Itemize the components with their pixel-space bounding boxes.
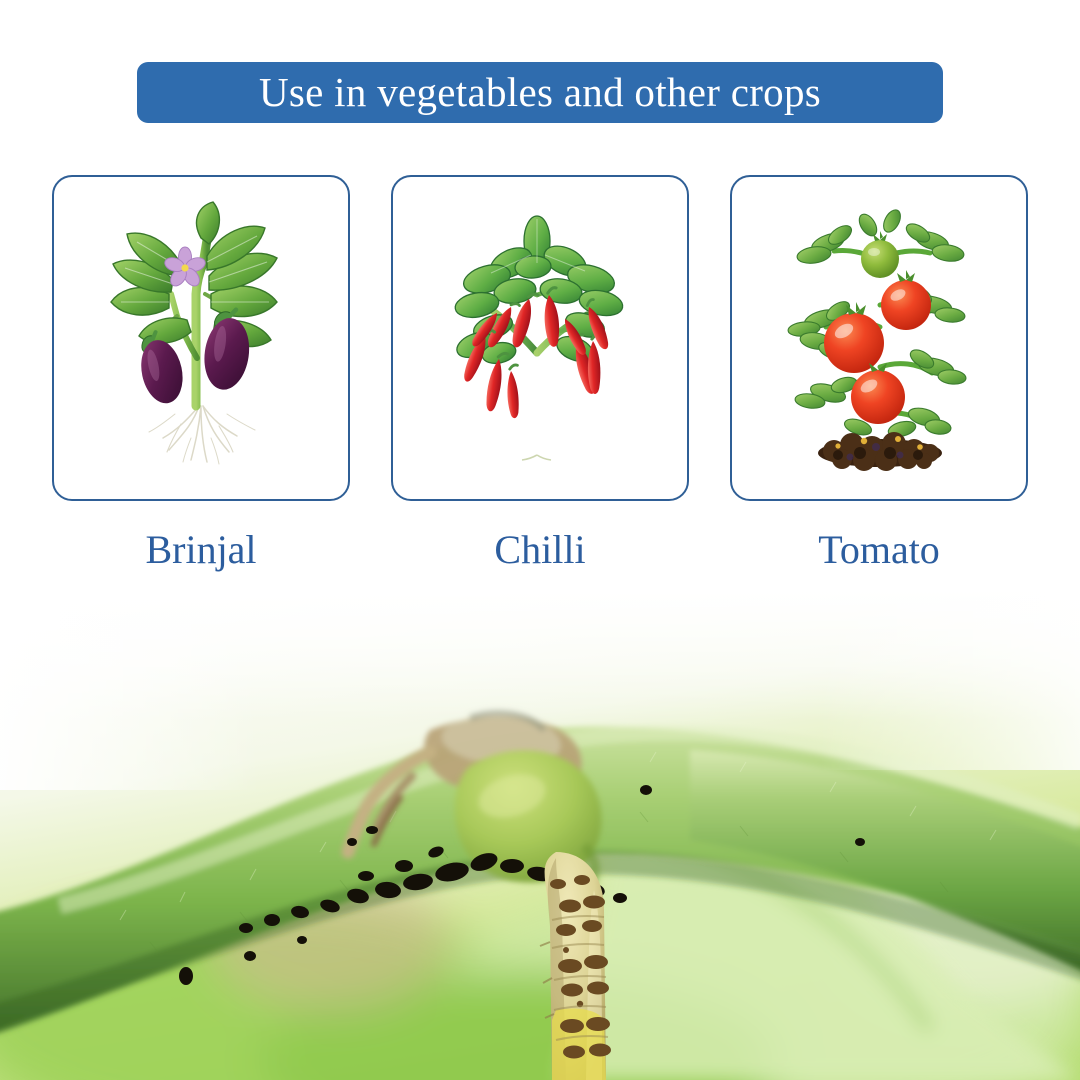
crop-cards-row (52, 175, 1028, 501)
crop-label-chilli: Chilli (391, 522, 689, 578)
stem-borer-larva-photo (0, 590, 1080, 1080)
crop-label-tomato: Tomato (730, 522, 1028, 578)
crop-card-tomato[interactable] (730, 175, 1028, 501)
brinjal-plant-illustration (81, 198, 321, 478)
crop-card-chilli[interactable] (391, 175, 689, 501)
tomato-plant-illustration (772, 201, 987, 476)
crop-labels-row: Brinjal Chilli Tomato (52, 522, 1028, 578)
infographic-page: Use in vegetables and other crops (0, 0, 1080, 1080)
crop-card-brinjal[interactable] (52, 175, 350, 501)
header-banner: Use in vegetables and other crops (137, 62, 943, 123)
banner-title: Use in vegetables and other crops (259, 72, 821, 113)
chilli-plant-illustration (425, 203, 655, 473)
crop-label-brinjal: Brinjal (52, 522, 350, 578)
